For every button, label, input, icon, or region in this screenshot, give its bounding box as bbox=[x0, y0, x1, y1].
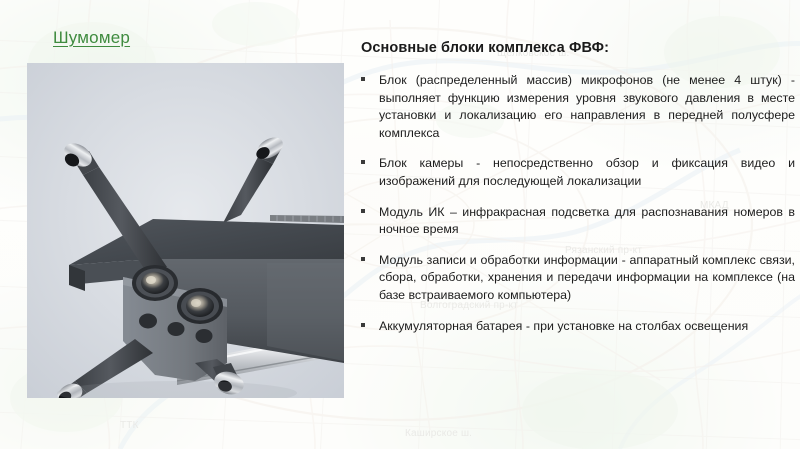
list-item-text: Аккумуляторная батарея - при установке н… bbox=[379, 319, 748, 333]
panel-heading: Основные блоки комплекса ФВФ: bbox=[361, 40, 795, 56]
list-item-text: Блок камеры - непосредственно обзор и фи… bbox=[379, 156, 795, 188]
bullet-marker-icon bbox=[361, 77, 365, 81]
slide-canvas: Щелковское ш. пр-кт Энтузиастов Рязански… bbox=[0, 0, 800, 449]
list-item-text: Блок (распределенный массив) микрофонов … bbox=[379, 73, 795, 140]
device-photo bbox=[27, 63, 344, 398]
bullet-marker-icon bbox=[361, 257, 365, 261]
list-item: Модуль ИК – инфракрасная подсветка для р… bbox=[357, 204, 795, 239]
list-item: Блок (распределенный массив) микрофонов … bbox=[357, 72, 795, 142]
page-title: Шумомер bbox=[53, 28, 130, 48]
bullet-marker-icon bbox=[361, 209, 365, 213]
list-item: Аккумуляторная батарея - при установке н… bbox=[357, 318, 795, 336]
list-item: Модуль записи и обработки информации - а… bbox=[357, 252, 795, 305]
blocks-list: Блок (распределенный массив) микрофонов … bbox=[357, 72, 795, 335]
bullet-marker-icon bbox=[361, 323, 365, 327]
content-panel: Основные блоки комплекса ФВФ: Блок (расп… bbox=[357, 40, 795, 440]
camera-lens-secondary bbox=[177, 288, 223, 324]
list-item: Блок камеры - непосредственно обзор и фи… bbox=[357, 155, 795, 190]
list-item-text: Модуль записи и обработки информации - а… bbox=[379, 253, 795, 302]
bullet-marker-icon bbox=[361, 160, 365, 164]
list-item-text: Модуль ИК – инфракрасная подсветка для р… bbox=[379, 205, 795, 237]
camera-lens-primary bbox=[132, 265, 178, 301]
device-render bbox=[27, 63, 344, 398]
